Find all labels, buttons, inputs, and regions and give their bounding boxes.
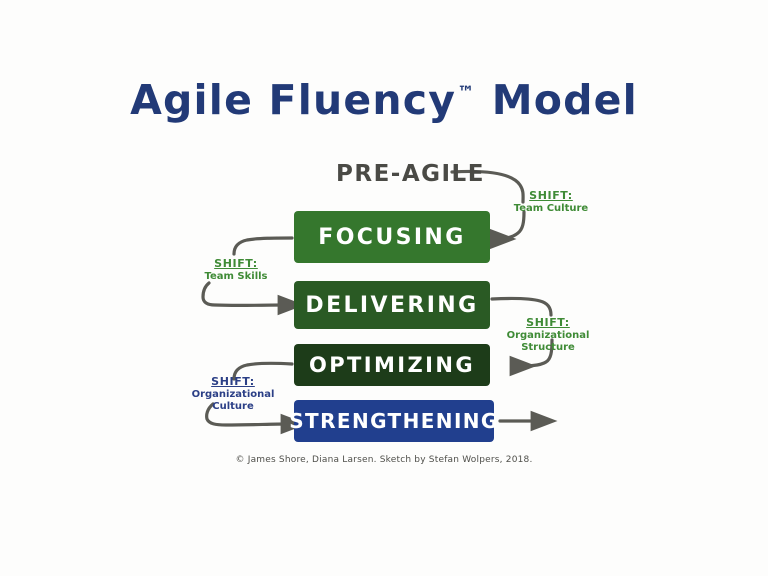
zone-box-focusing[interactable]: FOCUSING (294, 211, 490, 263)
trademark-symbol: ™ (457, 83, 474, 103)
shift-label-organizational-structure: SHIFT: Organizational Structure (500, 317, 596, 354)
shift-text-line1: Organizational (183, 389, 283, 401)
zone-box-strengthening[interactable]: STRENGTHENING (294, 400, 494, 442)
zone-label-delivering: DELIVERING (305, 293, 478, 318)
shift-keyword: SHIFT: (500, 317, 596, 330)
zone-label-strengthening: STRENGTHENING (289, 409, 499, 433)
page-title: Agile Fluency™ Model (0, 76, 768, 124)
shift-text-line1: Team Skills (194, 271, 278, 283)
shift-keyword: SHIFT: (183, 376, 283, 389)
shift-keyword: SHIFT: (505, 190, 597, 203)
shift-label-team-culture: SHIFT: Team Culture (505, 190, 597, 215)
shift-text-line1: Organizational (500, 330, 596, 342)
shift-label-team-skills: SHIFT: Team Skills (194, 258, 278, 283)
shift-label-organizational-culture: SHIFT: Organizational Culture (183, 376, 283, 413)
title-suffix: Model (492, 76, 638, 124)
shift-text-line2: Culture (183, 401, 283, 413)
shift-text-line2: Structure (500, 342, 596, 354)
title-main: Agile Fluency (130, 76, 456, 124)
credits-line: © James Shore, Diana Larsen. Sketch by S… (0, 455, 768, 465)
zone-label-focusing: FOCUSING (318, 225, 465, 250)
agile-fluency-model-sketch: Agile Fluency™ Model PRE-AGILE FOCUSING … (0, 0, 768, 576)
shift-keyword: SHIFT: (194, 258, 278, 271)
zone-label-optimizing: OPTIMIZING (309, 353, 475, 377)
shift-text-line1: Team Culture (505, 203, 597, 215)
zone-box-delivering[interactable]: DELIVERING (294, 281, 490, 329)
zone-box-optimizing[interactable]: OPTIMIZING (294, 344, 490, 386)
pre-agile-label: PRE-AGILE (336, 161, 485, 187)
